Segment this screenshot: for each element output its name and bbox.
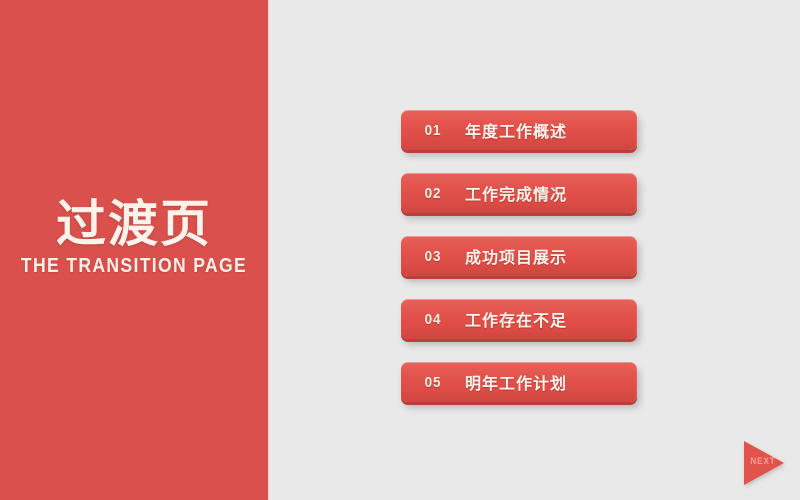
- agenda-item-label: 工作存在不足: [465, 307, 637, 331]
- agenda-item-02[interactable]: 02 工作完成情况: [401, 173, 637, 213]
- agenda-item-number: 01: [404, 122, 462, 139]
- next-button-label: NEXT: [748, 456, 779, 466]
- title-block: 过渡页 THE TRANSITION PAGE: [0, 196, 268, 278]
- agenda-menu-list: 01 年度工作概述 02 工作完成情况 03 成功项目展示 04 工作存在不足 …: [401, 110, 637, 402]
- agenda-item-number: 05: [404, 374, 462, 391]
- agenda-item-number: 04: [404, 311, 462, 328]
- agenda-item-number: 02: [404, 185, 462, 202]
- agenda-item-01[interactable]: 01 年度工作概述: [401, 110, 637, 150]
- transition-slide: 过渡页 THE TRANSITION PAGE 01 年度工作概述 02 工作完…: [0, 0, 800, 500]
- agenda-item-label: 工作完成情况: [465, 181, 637, 205]
- agenda-item-label: 年度工作概述: [465, 118, 637, 142]
- agenda-item-label: 成功项目展示: [465, 244, 637, 268]
- page-subtitle: THE TRANSITION PAGE: [16, 254, 252, 278]
- agenda-item-label: 明年工作计划: [465, 370, 637, 394]
- agenda-item-04[interactable]: 04 工作存在不足: [401, 299, 637, 339]
- page-title: 过渡页: [0, 196, 268, 252]
- agenda-item-number: 03: [404, 248, 462, 265]
- agenda-item-03[interactable]: 03 成功项目展示: [401, 236, 637, 276]
- panel-edge-stripe: [268, 0, 272, 500]
- agenda-item-05[interactable]: 05 明年工作计划: [401, 362, 637, 402]
- next-button[interactable]: NEXT: [744, 441, 786, 485]
